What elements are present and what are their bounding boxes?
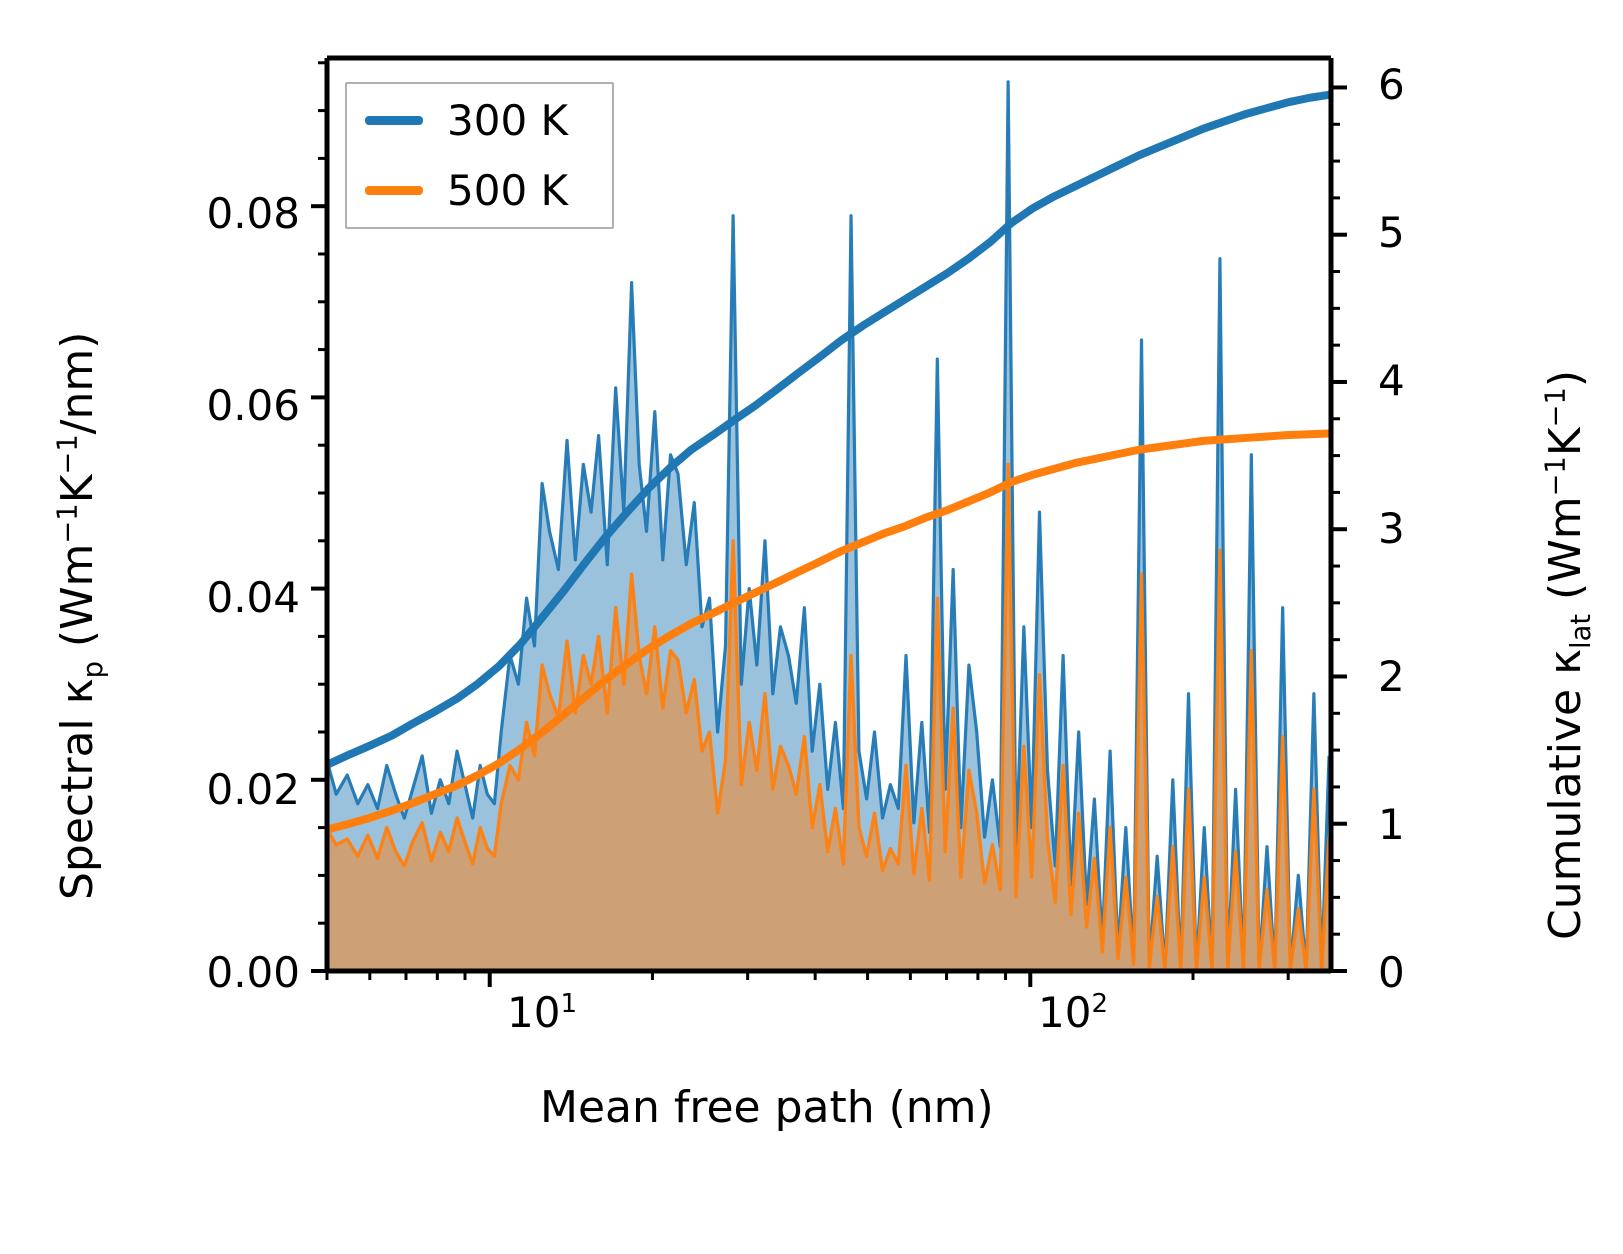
chart-legend: 300 K 500 K xyxy=(345,82,614,229)
y-right-tick-6: 6 xyxy=(1378,60,1458,109)
x-tick-mantissa-2: 10 xyxy=(1038,988,1091,1037)
y-left-title-sub: p xyxy=(78,661,109,678)
legend-label-500k: 500 K xyxy=(447,166,568,215)
y-left-tick-0: 0.00 xyxy=(150,948,300,997)
y-right-title-prefix: Cumulative κ xyxy=(1540,649,1591,940)
x-axis-title: Mean free path (nm) xyxy=(540,1082,994,1133)
y-left-title-prefix: Spectral κ xyxy=(52,678,103,900)
y-right-tick-3: 3 xyxy=(1378,504,1458,553)
x-tick-decade-1: 101 xyxy=(472,988,612,1037)
legend-label-300k: 300 K xyxy=(447,96,568,145)
line-500k-cumulative xyxy=(327,434,1329,830)
legend-entry-500k[interactable]: 500 K xyxy=(365,162,568,218)
y-right-tick-4: 4 xyxy=(1378,356,1458,405)
y-right-exp-k: −1 xyxy=(1540,387,1571,427)
y-right-title-suffix: (Wm xyxy=(1540,496,1591,614)
y-right-title-sub: lat xyxy=(1566,614,1597,649)
x-tick-decade-2: 102 xyxy=(1003,988,1143,1037)
legend-swatch-500k xyxy=(365,186,423,195)
y-left-tick-2: 0.04 xyxy=(150,573,300,622)
y-left-unit-tail: /nm) xyxy=(52,332,103,435)
y-left-tick-3: 0.06 xyxy=(150,381,300,430)
y-axis-right-title: Cumulative κlat (Wm−1K−1) xyxy=(1540,370,1597,940)
y-left-tick-1: 0.02 xyxy=(150,765,300,814)
y-axis-left-title: Spectral κp (Wm−1K−1/nm) xyxy=(52,332,109,900)
legend-entry-300k[interactable]: 300 K xyxy=(365,92,568,148)
y-right-tick-0: 0 xyxy=(1378,948,1458,997)
y-left-exp-m: −1 xyxy=(52,503,83,543)
y-right-tick-1: 1 xyxy=(1378,800,1458,849)
y-right-unit-tail: ) xyxy=(1540,370,1591,387)
x-tick-exponent-2: 2 xyxy=(1091,989,1108,1019)
y-right-tick-2: 2 xyxy=(1378,652,1458,701)
y-left-exp-k: −1 xyxy=(52,434,83,474)
legend-swatch-300k xyxy=(365,116,423,125)
y-right-exp-m: −1 xyxy=(1540,456,1571,496)
y-left-tick-4: 0.08 xyxy=(150,189,300,238)
figure-canvas: 0.00 0.02 0.04 0.06 0.08 0 1 2 3 4 5 6 1… xyxy=(0,0,1623,1254)
y-right-tick-5: 5 xyxy=(1378,208,1458,257)
y-left-title-suffix: (Wm xyxy=(52,544,103,662)
x-tick-exponent-1: 1 xyxy=(560,989,577,1019)
x-tick-mantissa-1: 10 xyxy=(507,988,560,1037)
